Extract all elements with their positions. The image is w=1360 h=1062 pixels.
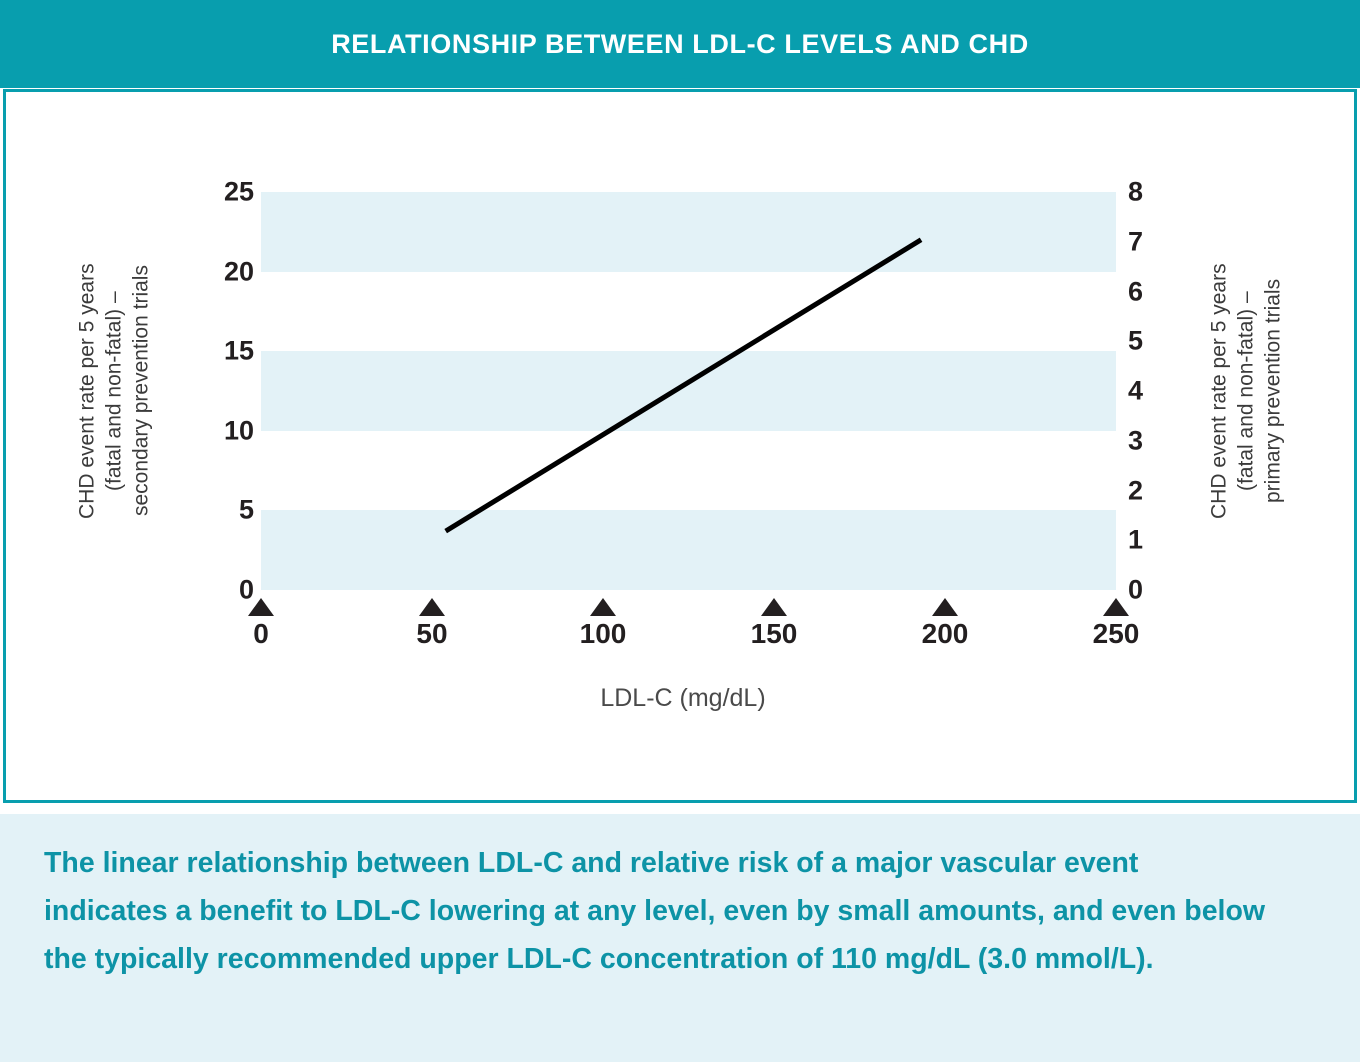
- title-banner: RELATIONSHIP BETWEEN LDL-C LEVELS AND CH…: [0, 0, 1360, 88]
- x-axis-tick: 150: [729, 590, 819, 650]
- x-axis-tick-label: 0: [216, 618, 306, 650]
- data-series-line: [446, 240, 921, 531]
- triangle-up-icon: [248, 598, 274, 616]
- caption-text: The linear relationship between LDL-C an…: [44, 840, 1269, 984]
- y-axis-left-tick-label: 20: [224, 256, 254, 287]
- figure-root: RELATIONSHIP BETWEEN LDL-C LEVELS AND CH…: [0, 0, 1360, 1062]
- y-axis-left-tick-label: 25: [224, 177, 254, 208]
- y-axis-right-tick-label: 6: [1128, 276, 1143, 307]
- series-line-svg: [261, 192, 1116, 590]
- y-axis-left-tick-label: 5: [239, 495, 254, 526]
- x-axis-tick: 200: [900, 590, 990, 650]
- y-axis-right-tick-label: 7: [1128, 226, 1143, 257]
- x-axis-tick-label: 200: [900, 618, 990, 650]
- plot-wrapper: CHD event rate per 5 years (fatal and no…: [6, 92, 1360, 806]
- plot-area: [261, 192, 1116, 590]
- triangle-up-icon: [419, 598, 445, 616]
- triangle-up-icon: [761, 598, 787, 616]
- y-axis-right-tick-label: 5: [1128, 326, 1143, 357]
- x-axis-tick-label: 50: [387, 618, 477, 650]
- triangle-up-icon: [1103, 598, 1129, 616]
- chart-frame: CHD event rate per 5 years (fatal and no…: [3, 89, 1357, 803]
- caption-block: The linear relationship between LDL-C an…: [0, 814, 1360, 1062]
- x-axis-tick-label: 100: [558, 618, 648, 650]
- triangle-up-icon: [932, 598, 958, 616]
- y-axis-left-tick-label: 15: [224, 336, 254, 367]
- x-axis-title: LDL-C (mg/dL): [6, 684, 1360, 713]
- y-axis-right-tick-label: 3: [1128, 425, 1143, 456]
- y-axis-right-tick-label: 8: [1128, 177, 1143, 208]
- x-axis-tick: 250: [1071, 590, 1161, 650]
- x-axis-tick-label: 150: [729, 618, 819, 650]
- x-axis-ticks: 050100150200250: [261, 590, 1116, 660]
- y-axis-right-tick-label: 4: [1128, 376, 1143, 407]
- y-axis-right-tick-label: 1: [1128, 525, 1143, 556]
- y-axis-left-ticks: 0510152025: [166, 192, 254, 590]
- triangle-up-icon: [590, 598, 616, 616]
- x-axis-tick: 100: [558, 590, 648, 650]
- x-axis-tick: 50: [387, 590, 477, 650]
- y-axis-right-tick-label: 2: [1128, 475, 1143, 506]
- y-axis-right-ticks: 012345678: [1128, 192, 1178, 590]
- y-axis-left-title: CHD event rate per 5 years (fatal and no…: [69, 192, 161, 590]
- x-axis-tick-label: 250: [1071, 618, 1161, 650]
- y-axis-left-tick-label: 10: [224, 415, 254, 446]
- page-title: RELATIONSHIP BETWEEN LDL-C LEVELS AND CH…: [331, 29, 1029, 60]
- y-axis-right-title: CHD event rate per 5 years (fatal and no…: [1201, 192, 1293, 590]
- x-axis-tick: 0: [216, 590, 306, 650]
